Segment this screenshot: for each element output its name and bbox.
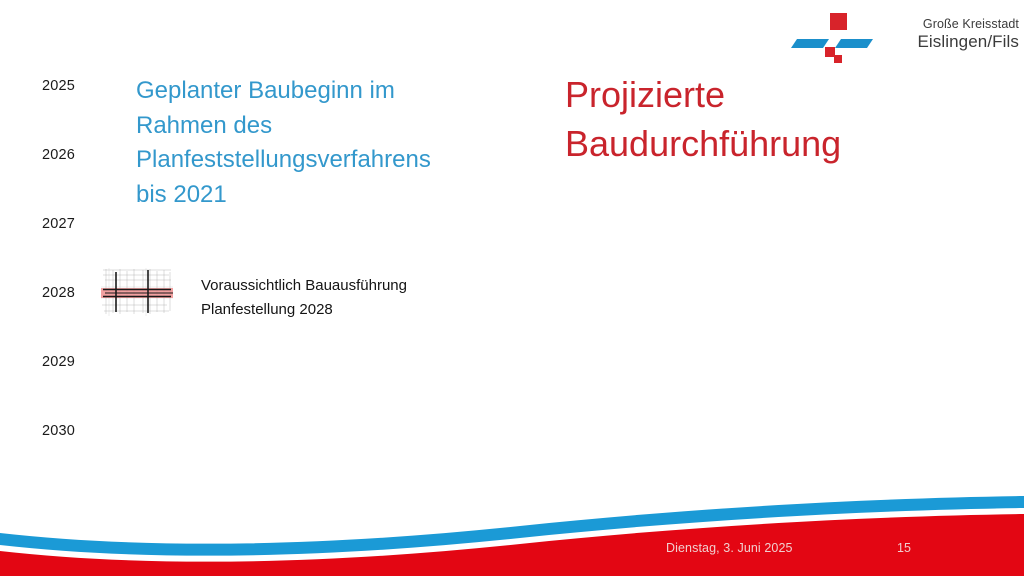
footer-wave-graphic (0, 476, 1024, 576)
blue-note-line-3: Planfeststellungsverfahrens (136, 143, 486, 178)
milestone-caption: Voraussichtlich Bauausführung Planfestel… (201, 274, 521, 322)
blue-note-line-1: Geplanter Baubeginn im (136, 74, 486, 109)
blue-note-line-2: Rahmen des (136, 109, 486, 144)
year-label-2029: 2029 (42, 354, 75, 370)
site-plan-thumbnail-image (99, 267, 175, 317)
footer-date: Dienstag, 3. Juni 2025 (666, 541, 793, 555)
year-label-2030: 2030 (42, 423, 75, 439)
blue-note-text: Geplanter Baubeginn im Rahmen des Planfe… (136, 74, 486, 212)
page-title-line-1: Projizierte (565, 70, 985, 119)
logo-line-1: Große Kreisstadt (893, 17, 1019, 32)
logo-mark-icon (789, 12, 881, 64)
milestone-caption-line-2: Planfestellung 2028 (201, 298, 521, 322)
year-label-2025: 2025 (42, 78, 75, 94)
logo-wordmark: Große Kreisstadt Eislingen/Fils (893, 17, 1019, 52)
page-title: Projizierte Baudurchführung (565, 70, 985, 168)
milestone-caption-line-1: Voraussichtlich Bauausführung (201, 274, 521, 298)
page-title-line-2: Baudurchführung (565, 119, 985, 168)
year-label-2026: 2026 (42, 147, 75, 163)
year-label-2028: 2028 (42, 285, 75, 301)
blue-note-line-4: bis 2021 (136, 178, 486, 213)
city-logo: Große Kreisstadt Eislingen/Fils (789, 8, 1019, 66)
slide-canvas: Große Kreisstadt Eislingen/Fils 2025 202… (0, 0, 1024, 576)
logo-line-2: Eislingen/Fils (893, 32, 1019, 52)
footer-page-number: 15 (897, 541, 911, 555)
year-label-2027: 2027 (42, 216, 75, 232)
